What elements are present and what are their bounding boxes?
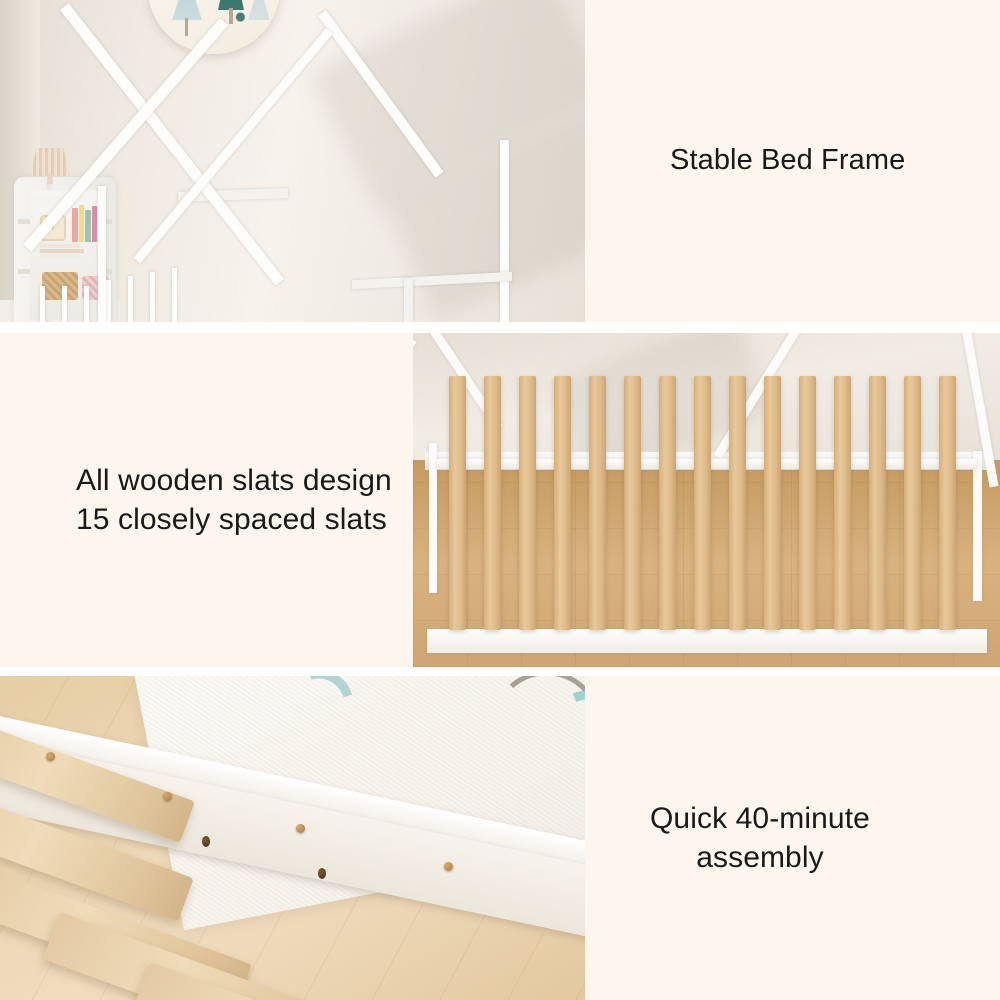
row-2-image-panel bbox=[413, 333, 1000, 667]
caption-stable-bed-frame: Stable Bed Frame bbox=[585, 142, 905, 180]
bed-slat bbox=[764, 376, 781, 630]
bed-slat bbox=[484, 376, 501, 630]
bedroom-scene bbox=[0, 0, 585, 322]
guard-rail-slat bbox=[106, 280, 111, 322]
book bbox=[85, 210, 91, 242]
bed-post bbox=[98, 186, 106, 322]
book-stack bbox=[40, 254, 78, 258]
slat-bed-scene bbox=[413, 333, 1000, 667]
guard-rail-slat bbox=[150, 272, 155, 322]
feature-row-2: All wooden slats design 15 closely space… bbox=[0, 333, 1000, 667]
row-1-image-panel bbox=[0, 0, 585, 322]
row-1-text-panel: Stable Bed Frame bbox=[585, 0, 1000, 322]
screw-hole bbox=[202, 836, 210, 847]
caption-wooden-slats: All wooden slats design 15 closely space… bbox=[0, 461, 392, 539]
book bbox=[92, 206, 97, 242]
bed-slat bbox=[729, 376, 746, 630]
book-stack bbox=[40, 249, 84, 253]
row-2-text-panel: All wooden slats design 15 closely space… bbox=[0, 333, 413, 667]
bed-post-left bbox=[429, 443, 437, 593]
screw-hole bbox=[318, 868, 326, 879]
frame-post-mid bbox=[404, 278, 413, 322]
slat-dowel bbox=[444, 862, 453, 871]
guard-rail-slat bbox=[84, 286, 89, 322]
feature-row-3: Quick 40-minute assembly bbox=[0, 676, 1000, 1000]
row-3-text-panel: Quick 40-minute assembly bbox=[585, 676, 1000, 1000]
assembly-scene bbox=[0, 676, 585, 1000]
bed-slat bbox=[904, 376, 921, 630]
tree-trunk-icon bbox=[229, 8, 233, 24]
tree-icon bbox=[172, 0, 202, 20]
guard-rail-slat bbox=[62, 286, 67, 322]
infographic-sheet: Stable Bed Frame All wooden slats design… bbox=[0, 0, 1000, 1000]
bed-slat bbox=[554, 376, 571, 630]
bed-slat bbox=[449, 376, 466, 630]
guard-rail-slat bbox=[128, 276, 133, 322]
bed-slat bbox=[589, 376, 606, 630]
book bbox=[79, 205, 84, 242]
bed-slat bbox=[834, 376, 851, 630]
rug-cloud bbox=[271, 676, 366, 752]
bed-slat bbox=[519, 376, 536, 630]
book-stack bbox=[40, 244, 80, 248]
bed-slat bbox=[939, 376, 956, 630]
slat-dowel bbox=[296, 824, 305, 833]
bed-slat bbox=[869, 376, 886, 630]
book bbox=[72, 208, 78, 242]
bed-slat bbox=[694, 376, 711, 630]
caption-quick-assembly: Quick 40-minute assembly bbox=[585, 799, 870, 877]
bed-slat bbox=[659, 376, 676, 630]
row-divider bbox=[0, 667, 1000, 676]
slat-dowel bbox=[163, 792, 172, 801]
guard-rail-slat bbox=[172, 268, 177, 322]
bed-post-right bbox=[973, 451, 982, 601]
row-divider bbox=[0, 322, 1000, 333]
bed-slat bbox=[799, 376, 816, 630]
guard-rail-slat bbox=[40, 286, 45, 322]
tree-icon bbox=[248, 0, 270, 20]
bed-slat bbox=[624, 376, 641, 630]
storage-basket bbox=[42, 272, 78, 300]
feature-row-1: Stable Bed Frame bbox=[0, 0, 1000, 322]
roof-beam-cross bbox=[23, 18, 228, 252]
lamp-neck bbox=[47, 174, 53, 184]
bed-front-rail bbox=[427, 629, 987, 653]
slat-dowel bbox=[46, 752, 55, 761]
tree-trunk-icon bbox=[185, 18, 188, 36]
row-3-image-panel bbox=[0, 676, 585, 1000]
frame-post-right bbox=[500, 140, 509, 322]
lamp-shade bbox=[30, 148, 70, 176]
rainbow-arc bbox=[247, 676, 290, 679]
